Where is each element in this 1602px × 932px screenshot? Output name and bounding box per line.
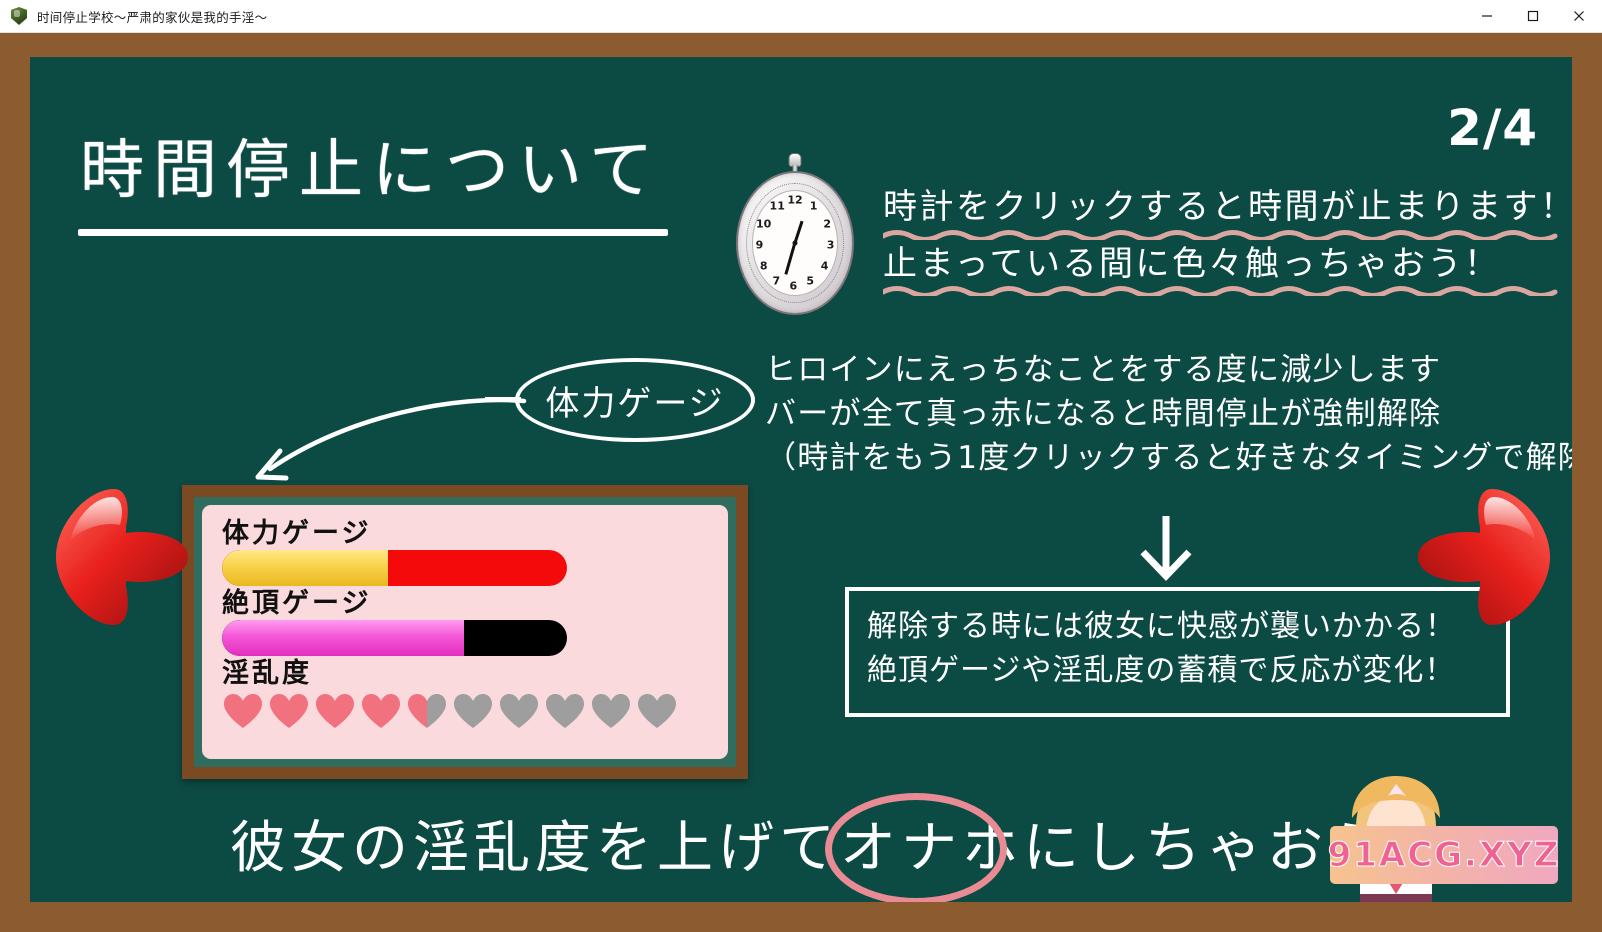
page-title-text: 時間停止について [80,139,700,203]
lewdness-heart [222,692,264,730]
arrow-left-nav-icon[interactable] [48,475,198,640]
gauge-callout-ellipse: 体力ゲージ [515,358,755,442]
window-title: 时间停止学校～严肃的家伙是我的手淫～ [37,7,267,26]
lewdness-heart [314,692,356,730]
lewdness-label: 淫乱度 [222,659,712,688]
hp-gauge-fill [222,550,388,586]
watch-numeral: 1 [810,200,818,213]
page-title-underline [78,229,668,236]
description-line: バーが全て真っ赤になると時間停止が強制解除 [765,392,1572,436]
watch-numeral: 3 [827,239,835,252]
minimize-button[interactable] [1464,0,1510,32]
close-button[interactable] [1556,0,1602,32]
climax-gauge-fill [222,620,464,656]
watch-numeral: 5 [806,274,814,287]
pocket-watch-icon[interactable]: 12 1 2 3 4 5 6 7 8 9 10 11 [736,153,854,315]
circle-highlight-mark [825,793,1007,902]
lewdness-hearts [222,692,712,730]
arrow-down-icon [1133,512,1199,582]
watch-numeral: 6 [789,279,797,292]
lewdness-heart [360,692,402,730]
wavy-underline [883,284,1563,296]
watch-numeral: 7 [773,274,781,287]
clock-instruction-line: 止まっている間に色々触っちゃおう！ [883,247,1563,283]
arrow-right-nav-icon[interactable] [1408,475,1558,640]
hp-gauge-bar [222,550,567,586]
lewdness-heart [268,692,310,730]
climax-gauge-bar [222,620,567,656]
watch-numeral: 11 [770,200,785,213]
watch-numeral: 12 [787,194,802,207]
clock-instruction-line: 時計をクリックすると時間が止まります！ [883,190,1563,226]
window-controls [1464,0,1602,32]
chalkboard-frame: 時間停止について 2/4 12 1 2 3 4 5 6 [0,33,1602,932]
description-line: （時計をもう1度クリックすると好きなタイミングで解除） [765,436,1572,480]
title-bar: 时间停止学校～严肃的家伙是我的手淫～ [0,0,1602,33]
maximize-button[interactable] [1510,0,1556,32]
watch-numeral: 9 [756,239,764,252]
description-line: ヒロインにえっちなことをする度に減少します [765,348,1572,392]
watermark-text: 91ACG.XYZ [1328,835,1561,875]
wavy-underline [883,228,1563,240]
page-title: 時間停止について [80,139,700,203]
lewdness-heart [636,692,678,730]
lewdness-heart [452,692,494,730]
curved-arrow-icon [228,385,528,485]
hp-gauge-label: 体力ゲージ [222,519,712,548]
watch-numeral: 2 [823,218,831,231]
watch-numeral: 10 [756,218,771,231]
app-shield-icon [9,6,29,26]
gauge-callout-label: 体力ゲージ [545,376,724,425]
lewdness-heart [498,692,540,730]
lewdness-heart [544,692,586,730]
site-watermark: 91ACG.XYZ [1330,826,1558,884]
watch-numeral: 4 [821,259,829,272]
clock-instruction-block: 時計をクリックすると時間が止まります！ 止まっている間に色々触っちゃおう！ [883,190,1563,303]
climax-gauge-label: 絶頂ゲージ [222,589,712,618]
lewdness-heart [590,692,632,730]
info-line: 絶頂ゲージや淫乱度の蓄積で反応が変化！ [867,649,1506,693]
lewdness-heart [406,692,448,730]
chalkboard: 時間停止について 2/4 12 1 2 3 4 5 6 [30,57,1572,902]
page-indicator: 2/4 [1447,99,1538,157]
gauge-panel: 体力ゲージ 絶頂ゲージ 淫乱度 [182,485,748,779]
watch-numeral: 8 [760,259,768,272]
mechanics-description: ヒロインにえっちなことをする度に減少します バーが全て真っ赤になると時間停止が強… [765,348,1572,480]
app-window: 时间停止学校～严肃的家伙是我的手淫～ 時間停止について 2/4 [0,0,1602,932]
